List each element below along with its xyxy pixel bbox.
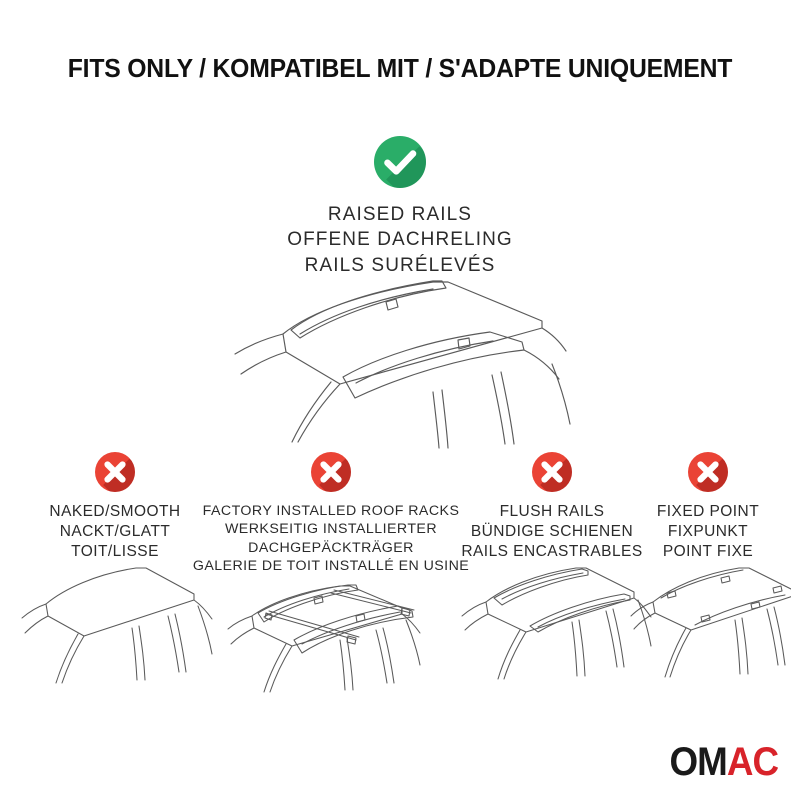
logo-text-red: AC	[727, 740, 778, 784]
item-label-line-3: DACHGEPÄCKTRÄGER	[193, 539, 469, 557]
compatible-label-line-1: RAISED RAILS	[287, 202, 513, 227]
page-title: FITS ONLY / KOMPATIBEL MIT / S'ADAPTE UN…	[12, 55, 788, 84]
item-label-line-1: FIXED POINT	[657, 502, 759, 522]
item-label-line-1: FACTORY INSTALLED ROOF RACKS	[193, 502, 469, 520]
factory-roof-rack-illustration	[206, 574, 456, 714]
not-compatible-item-naked-smooth: NAKED/SMOOTH NACKT/GLATT TOIT/LISSE	[8, 452, 222, 562]
item-label: FACTORY INSTALLED ROOF RACKS WERKSEITIG …	[193, 502, 469, 576]
flush-rails-roof-illustration	[452, 560, 652, 700]
compatible-section: RAISED RAILS OFFENE DACHRELING RAILS SUR…	[0, 136, 800, 278]
item-label: FIXED POINT FIXPUNKT POINT FIXE	[657, 502, 759, 562]
item-label-line-2: FIXPUNKT	[657, 522, 759, 542]
item-label: FLUSH RAILS BÜNDIGE SCHIENEN RAILS ENCAS…	[461, 502, 642, 562]
cross-circle-icon	[311, 452, 351, 492]
not-compatible-section: NAKED/SMOOTH NACKT/GLATT TOIT/LISSE	[0, 452, 800, 702]
item-label: NAKED/SMOOTH NACKT/GLATT TOIT/LISSE	[49, 502, 180, 562]
check-circle-icon	[374, 136, 426, 188]
item-label-line-2: WERKSEITIG INSTALLIERTER	[193, 520, 469, 538]
raised-rails-roof-illustration	[190, 272, 610, 452]
cross-circle-icon	[532, 452, 572, 492]
fixed-point-roof-illustration	[623, 560, 791, 700]
cross-circle-icon	[688, 452, 728, 492]
cross-circle-icon	[95, 452, 135, 492]
logo-text-dark: OM	[669, 740, 726, 784]
item-label-line-1: FLUSH RAILS	[461, 502, 642, 522]
not-compatible-item-fixed-point: FIXED POINT FIXPUNKT POINT FIXE	[637, 452, 779, 562]
compatible-label: RAISED RAILS OFFENE DACHRELING RAILS SUR…	[287, 202, 513, 278]
item-label-line-1: NAKED/SMOOTH	[49, 502, 180, 522]
item-label-line-2: NACKT/GLATT	[49, 522, 180, 542]
item-label-line-2: BÜNDIGE SCHIENEN	[461, 522, 642, 542]
omac-logo: OMAC	[669, 742, 778, 782]
not-compatible-item-flush-rails: FLUSH RAILS BÜNDIGE SCHIENEN RAILS ENCAS…	[452, 452, 652, 562]
compatibility-infographic: FITS ONLY / KOMPATIBEL MIT / S'ADAPTE UN…	[0, 0, 800, 800]
compatible-label-line-2: OFFENE DACHRELING	[287, 227, 513, 252]
not-compatible-item-factory-roof-racks: FACTORY INSTALLED ROOF RACKS WERKSEITIG …	[206, 452, 456, 576]
naked-smooth-roof-illustration	[8, 560, 222, 700]
